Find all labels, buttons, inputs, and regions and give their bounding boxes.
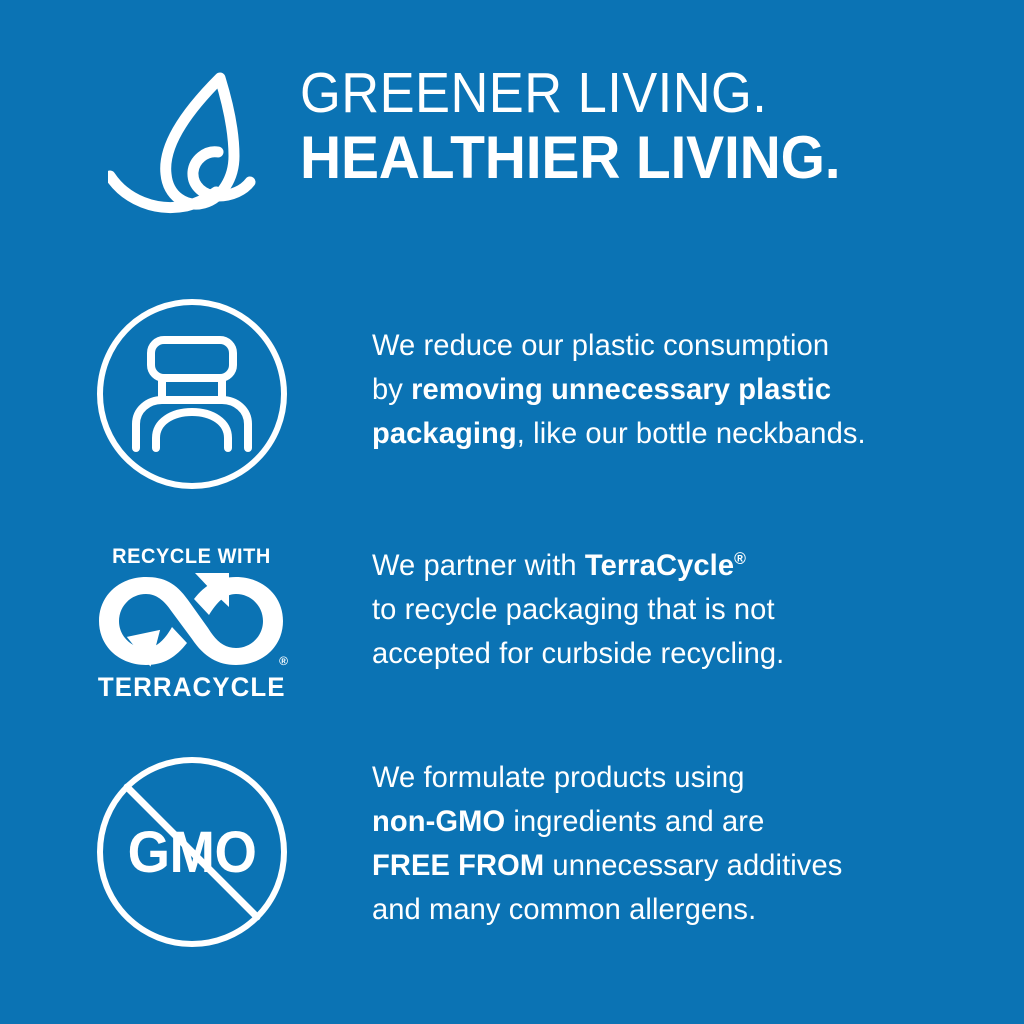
terracycle-wordmark: TERRACYCLE	[98, 672, 286, 703]
body-text: by	[372, 373, 411, 406]
body-line: packaging, like our bottle neckbands.	[372, 412, 975, 456]
body-line: and many common allergens.	[372, 888, 975, 932]
body-text: , like our bottle neckbands.	[517, 417, 866, 450]
body-text-emphasis: TerraCycle®	[585, 549, 746, 582]
no-gmo-icon: GMO	[92, 752, 292, 952]
registered-trademark-icon: ®	[279, 655, 288, 667]
feature-row-non-gmo: GMO We formulate products using non-GMO …	[0, 752, 1024, 962]
body-text: to recycle packaging that is not	[372, 593, 775, 626]
body-line: We partner with TerraCycle®	[372, 544, 975, 588]
body-text: We reduce our plastic consumption	[372, 329, 829, 362]
feature-text-terracycle: We partner with TerraCycle® to recycle p…	[372, 534, 1024, 676]
body-text: accepted for curbside recycling.	[372, 637, 784, 670]
feature-text-non-gmo: We formulate products using non-GMO ingr…	[372, 752, 1024, 932]
body-line: We reduce our plastic consumption	[372, 324, 975, 368]
feature-text-plastic-reduction: We reduce our plastic consumption by rem…	[372, 296, 1024, 456]
body-text: We formulate products using	[372, 761, 744, 794]
body-text: We partner with	[372, 549, 585, 582]
leaf-icon	[108, 70, 298, 230]
body-text-emphasis: non-GMO	[372, 805, 505, 838]
header: GREENER LIVING. HEALTHIER LIVING.	[0, 62, 1024, 232]
terracycle-top-label: RECYCLE WITH	[113, 545, 272, 569]
body-text: and many common allergens.	[372, 893, 756, 926]
feature-row-plastic-reduction: We reduce our plastic consumption by rem…	[0, 296, 1024, 496]
body-text-emphasis: removing unnecessary plastic	[411, 373, 831, 406]
body-line: non-GMO ingredients and are	[372, 800, 975, 844]
feature-row-terracycle: RECYCLE WITH	[0, 534, 1024, 714]
body-text-emphasis: FREE FROM	[372, 849, 544, 882]
headline-line-1: GREENER LIVING.	[300, 62, 944, 124]
headline-line-2: HEALTHIER LIVING.	[300, 124, 965, 192]
body-line: accepted for curbside recycling.	[372, 632, 975, 676]
infinity-recycle-icon: ®	[94, 571, 290, 671]
body-text: unnecessary additives	[544, 849, 842, 882]
body-text: ingredients and are	[505, 805, 764, 838]
body-line: We formulate products using	[372, 756, 975, 800]
terracycle-logo: RECYCLE WITH	[92, 534, 292, 714]
bottle-neckband-icon	[92, 296, 292, 492]
greener-living-infographic: GREENER LIVING. HEALTHIER LIVING. We red…	[0, 0, 1024, 1024]
body-line: FREE FROM unnecessary additives	[372, 844, 975, 888]
body-line: by removing unnecessary plastic	[372, 368, 975, 412]
body-line: to recycle packaging that is not	[372, 588, 975, 632]
body-text-emphasis: packaging	[372, 417, 517, 450]
page-title: GREENER LIVING. HEALTHIER LIVING.	[300, 62, 1000, 192]
gmo-label: GMO	[100, 754, 284, 950]
registered-trademark-icon: ®	[734, 550, 746, 568]
